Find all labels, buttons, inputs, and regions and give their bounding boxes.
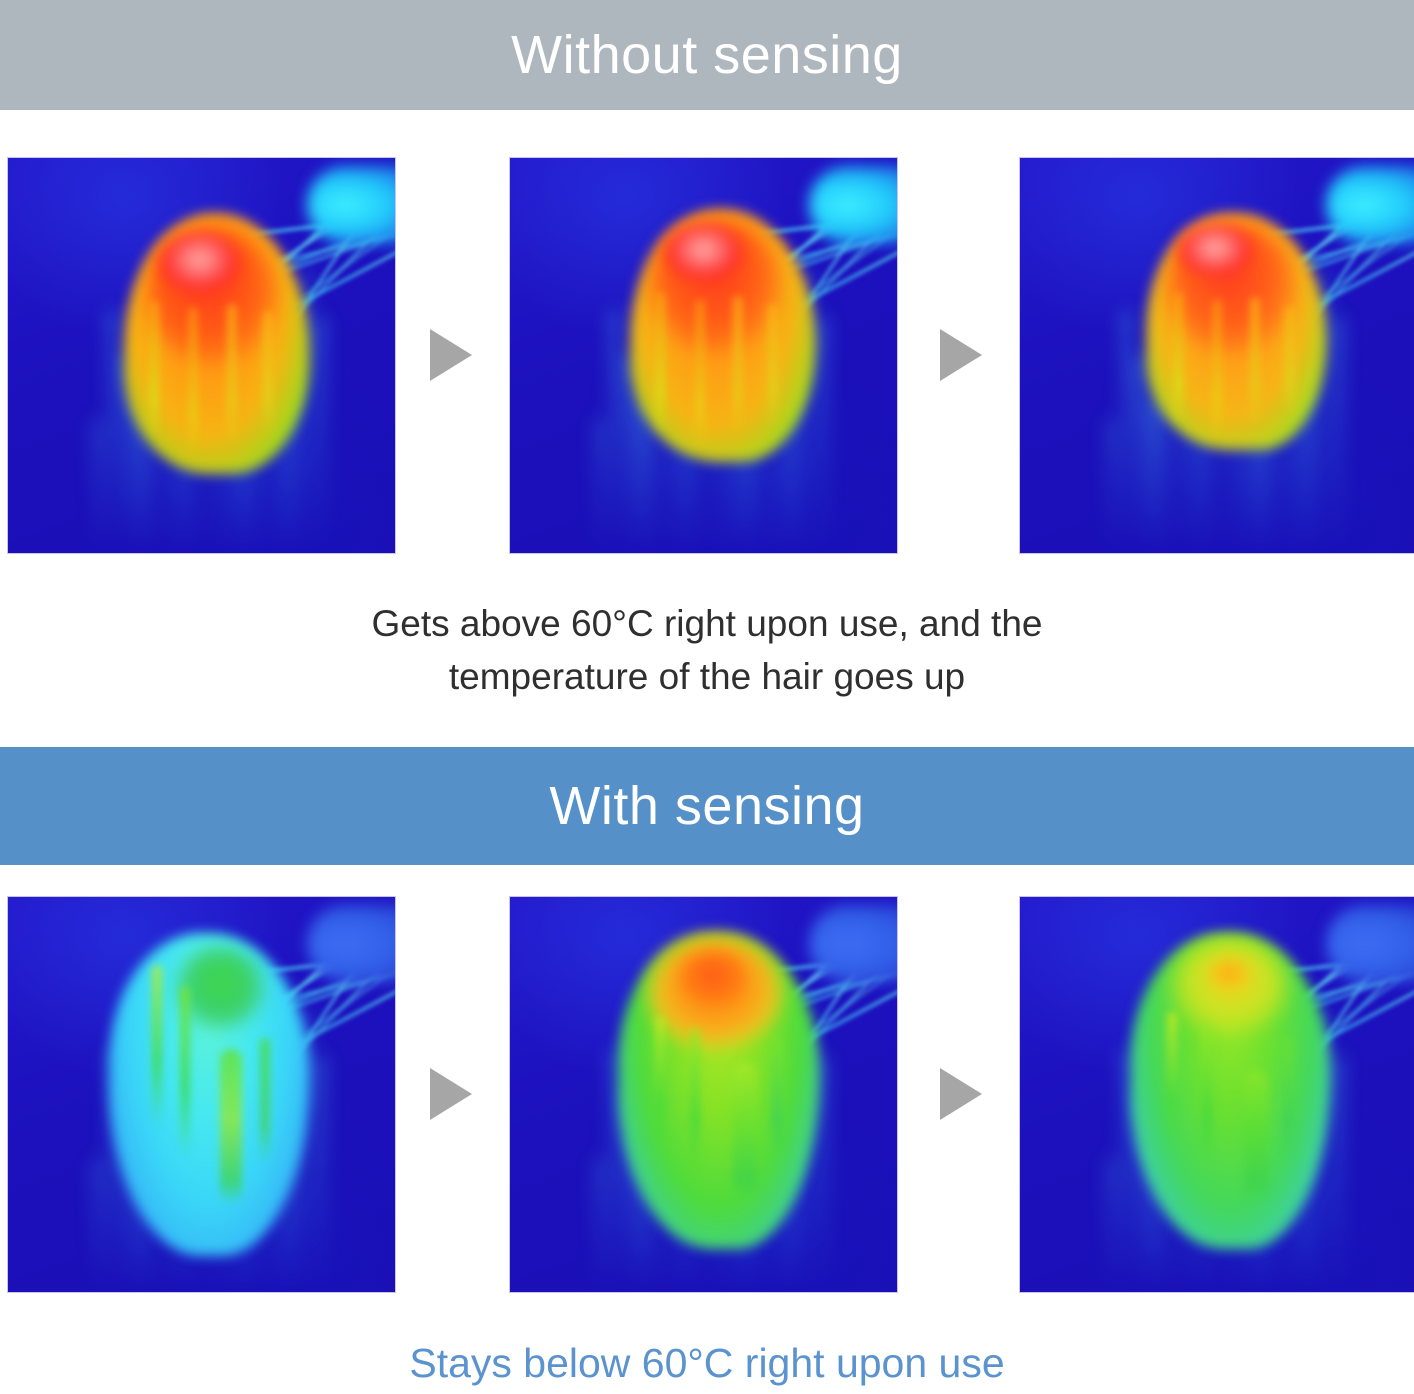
play-triangle-right-icon <box>430 1068 472 1120</box>
heat-streaks <box>1162 292 1320 458</box>
nozzle-object <box>1326 905 1414 983</box>
section-header-without-sensing-label: Without sensing <box>511 28 903 82</box>
thermal-image-row-without-sensing <box>0 158 1414 553</box>
section-header-without-sensing: Without sensing <box>0 0 1414 110</box>
nozzle-object <box>809 166 897 244</box>
peak-hotspot <box>1209 960 1248 988</box>
thermal-image-row-with-sensing <box>0 897 1414 1292</box>
thermal-image-without-1 <box>8 158 395 553</box>
section-header-with-sensing: With sensing <box>0 747 1414 865</box>
section-header-with-sensing-label: With sensing <box>549 779 864 833</box>
play-triangle-right-icon <box>940 1068 982 1120</box>
caption-without-sensing-line1: Gets above 60°C right upon use, and the <box>0 598 1414 651</box>
thermal-image-with-1 <box>8 897 395 1292</box>
peak-hotspot <box>680 952 746 1003</box>
nozzle-object <box>307 166 395 244</box>
heat-streaks <box>1154 1008 1316 1229</box>
play-triangle-right-icon <box>430 329 472 381</box>
thermal-image-without-2 <box>510 158 897 553</box>
peak-hotspot <box>159 233 240 292</box>
heat-streaks <box>645 292 804 466</box>
nozzle-object <box>809 905 897 983</box>
nozzle-object <box>307 905 395 983</box>
thermal-image-with-3 <box>1020 897 1414 1292</box>
thermal-image-with-2 <box>510 897 897 1292</box>
thermal-image-without-3 <box>1020 158 1414 553</box>
nozzle-object <box>1326 166 1414 244</box>
caption-with-sensing: Stays below 60°C right upon use <box>0 1334 1414 1392</box>
heat-streaks <box>140 300 303 474</box>
caption-without-sensing: Gets above 60°C right upon use, and the … <box>0 598 1414 703</box>
caption-without-sensing-line2: temperature of the hair goes up <box>0 651 1414 704</box>
heat-streaks <box>642 1016 805 1229</box>
heat-streaks <box>140 960 295 1221</box>
caption-with-sensing-line1: Stays below 60°C right upon use <box>409 1340 1004 1386</box>
play-triangle-right-icon <box>940 329 982 381</box>
